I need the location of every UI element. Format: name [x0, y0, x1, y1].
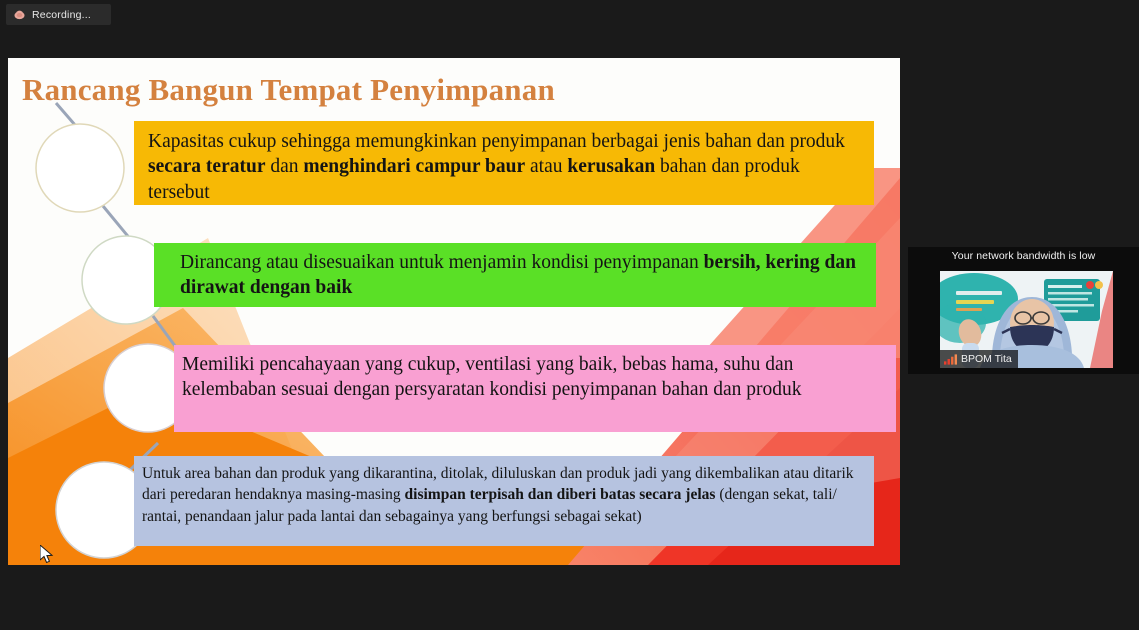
signal-bars-icon — [944, 354, 957, 365]
banner-lighting-text: Memiliki pencahayaan yang cukup, ventila… — [182, 354, 801, 400]
banner-design-text: Dirancang atau disesuaikan untuk menjami… — [180, 252, 856, 298]
participant-name-label: BPOM Tita — [961, 353, 1012, 365]
banner-capacity: Kapasitas cukup sehingga memungkinkan pe… — [134, 121, 874, 205]
recording-badge[interactable]: Recording... — [6, 4, 111, 25]
cloud-recording-icon — [13, 9, 26, 20]
banner-lighting: Memiliki pencahayaan yang cukup, ventila… — [174, 345, 896, 432]
participant-video-panel[interactable]: Your network bandwidth is low — [908, 247, 1139, 374]
video-tile[interactable]: BPOM Tita — [940, 271, 1113, 368]
shared-slide[interactable]: Rancang Bangun Tempat Penyimpanan Kapasi… — [8, 58, 900, 565]
bandwidth-warning-text: Your network bandwidth is low — [908, 250, 1139, 262]
slide-title: Rancang Bangun Tempat Penyimpanan — [22, 72, 555, 108]
recording-label: Recording... — [32, 9, 91, 21]
participant-name-strip: BPOM Tita — [940, 350, 1018, 368]
banner-design: Dirancang atau disesuaikan untuk menjami… — [154, 243, 876, 307]
banner-quarantine: Untuk area bahan dan produk yang dikaran… — [134, 456, 874, 546]
banner-quarantine-text: Untuk area bahan dan produk yang dikaran… — [142, 465, 854, 525]
banner-capacity-text: Kapasitas cukup sehingga memungkinkan pe… — [148, 131, 845, 203]
